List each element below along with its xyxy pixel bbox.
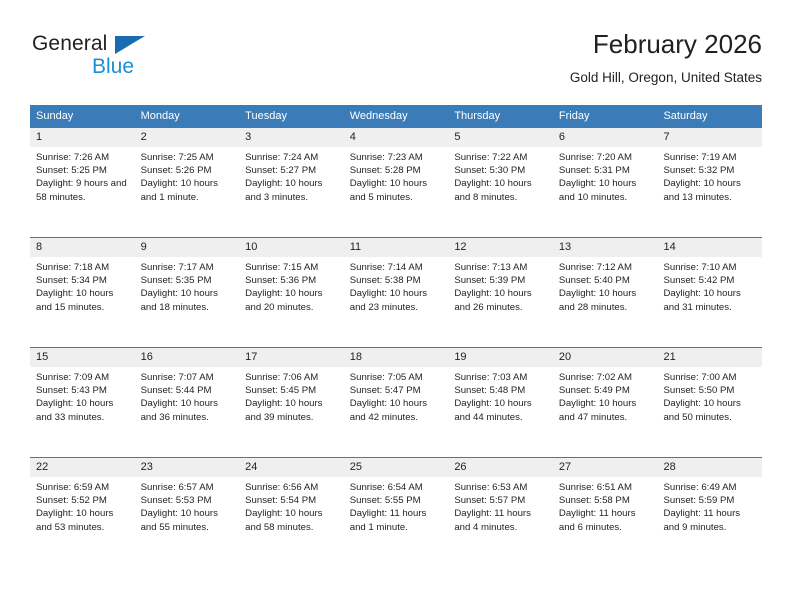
day-details: Sunrise: 7:09 AM Sunset: 5:43 PM Dayligh… — [30, 367, 135, 424]
daylight-text: Daylight: 9 hours and 58 minutes. — [36, 177, 131, 203]
sunrise-text: Sunrise: 7:19 AM — [663, 151, 758, 164]
day-number: 15 — [30, 348, 135, 367]
day-number: 23 — [135, 458, 240, 477]
general-blue-logo[interactable]: General Blue — [32, 32, 212, 90]
sunset-text: Sunset: 5:30 PM — [454, 164, 549, 177]
day-details: Sunrise: 7:03 AM Sunset: 5:48 PM Dayligh… — [448, 367, 553, 424]
day-number: 18 — [344, 348, 449, 367]
day-cell[interactable]: 3 Sunrise: 7:24 AM Sunset: 5:27 PM Dayli… — [239, 128, 344, 237]
sunrise-text: Sunrise: 6:49 AM — [663, 481, 758, 494]
sunrise-text: Sunrise: 7:26 AM — [36, 151, 131, 164]
sunset-text: Sunset: 5:48 PM — [454, 384, 549, 397]
day-cell[interactable]: 8 Sunrise: 7:18 AM Sunset: 5:34 PM Dayli… — [30, 238, 135, 347]
day-details: Sunrise: 7:12 AM Sunset: 5:40 PM Dayligh… — [553, 257, 658, 314]
day-cell[interactable]: 15 Sunrise: 7:09 AM Sunset: 5:43 PM Dayl… — [30, 348, 135, 457]
location-subtitle: Gold Hill, Oregon, United States — [570, 68, 762, 88]
day-details: Sunrise: 6:56 AM Sunset: 5:54 PM Dayligh… — [239, 477, 344, 534]
week-row: 8 Sunrise: 7:18 AM Sunset: 5:34 PM Dayli… — [30, 237, 762, 347]
day-cell[interactable]: 1 Sunrise: 7:26 AM Sunset: 5:25 PM Dayli… — [30, 128, 135, 237]
sunset-text: Sunset: 5:31 PM — [559, 164, 654, 177]
day-cell[interactable]: 27 Sunrise: 6:51 AM Sunset: 5:58 PM Dayl… — [553, 458, 658, 567]
sunrise-text: Sunrise: 6:56 AM — [245, 481, 340, 494]
week-row: 22 Sunrise: 6:59 AM Sunset: 5:52 PM Dayl… — [30, 457, 762, 567]
sunrise-text: Sunrise: 7:12 AM — [559, 261, 654, 274]
day-details: Sunrise: 7:07 AM Sunset: 5:44 PM Dayligh… — [135, 367, 240, 424]
daylight-text: Daylight: 11 hours and 9 minutes. — [663, 507, 758, 533]
day-details: Sunrise: 7:20 AM Sunset: 5:31 PM Dayligh… — [553, 147, 658, 204]
sunset-text: Sunset: 5:47 PM — [350, 384, 445, 397]
day-number: 14 — [657, 238, 762, 257]
day-number: 19 — [448, 348, 553, 367]
daylight-text: Daylight: 10 hours and 42 minutes. — [350, 397, 445, 423]
day-cell[interactable]: 28 Sunrise: 6:49 AM Sunset: 5:59 PM Dayl… — [657, 458, 762, 567]
daylight-text: Daylight: 10 hours and 36 minutes. — [141, 397, 236, 423]
day-number: 2 — [135, 128, 240, 147]
day-details: Sunrise: 7:10 AM Sunset: 5:42 PM Dayligh… — [657, 257, 762, 314]
sunset-text: Sunset: 5:45 PM — [245, 384, 340, 397]
daylight-text: Daylight: 10 hours and 39 minutes. — [245, 397, 340, 423]
day-cell[interactable]: 6 Sunrise: 7:20 AM Sunset: 5:31 PM Dayli… — [553, 128, 658, 237]
sunrise-text: Sunrise: 7:14 AM — [350, 261, 445, 274]
daylight-text: Daylight: 10 hours and 5 minutes. — [350, 177, 445, 203]
logo-text-general: General — [32, 32, 107, 56]
day-cell[interactable]: 19 Sunrise: 7:03 AM Sunset: 5:48 PM Dayl… — [448, 348, 553, 457]
daylight-text: Daylight: 10 hours and 28 minutes. — [559, 287, 654, 313]
sunrise-text: Sunrise: 7:22 AM — [454, 151, 549, 164]
weekday-header-wednesday: Wednesday — [344, 105, 449, 127]
day-number: 24 — [239, 458, 344, 477]
daylight-text: Daylight: 10 hours and 15 minutes. — [36, 287, 131, 313]
sunrise-text: Sunrise: 7:17 AM — [141, 261, 236, 274]
day-number: 8 — [30, 238, 135, 257]
sunset-text: Sunset: 5:58 PM — [559, 494, 654, 507]
week-row: 15 Sunrise: 7:09 AM Sunset: 5:43 PM Dayl… — [30, 347, 762, 457]
sunset-text: Sunset: 5:27 PM — [245, 164, 340, 177]
day-cell[interactable]: 4 Sunrise: 7:23 AM Sunset: 5:28 PM Dayli… — [344, 128, 449, 237]
sunrise-text: Sunrise: 7:18 AM — [36, 261, 131, 274]
day-details: Sunrise: 7:13 AM Sunset: 5:39 PM Dayligh… — [448, 257, 553, 314]
day-cell[interactable]: 13 Sunrise: 7:12 AM Sunset: 5:40 PM Dayl… — [553, 238, 658, 347]
daylight-text: Daylight: 10 hours and 8 minutes. — [454, 177, 549, 203]
daylight-text: Daylight: 10 hours and 10 minutes. — [559, 177, 654, 203]
sunset-text: Sunset: 5:49 PM — [559, 384, 654, 397]
day-details: Sunrise: 7:00 AM Sunset: 5:50 PM Dayligh… — [657, 367, 762, 424]
day-number: 13 — [553, 238, 658, 257]
day-details: Sunrise: 7:24 AM Sunset: 5:27 PM Dayligh… — [239, 147, 344, 204]
daylight-text: Daylight: 10 hours and 18 minutes. — [141, 287, 236, 313]
sunrise-text: Sunrise: 7:25 AM — [141, 151, 236, 164]
day-number: 17 — [239, 348, 344, 367]
daylight-text: Daylight: 10 hours and 3 minutes. — [245, 177, 340, 203]
sunset-text: Sunset: 5:59 PM — [663, 494, 758, 507]
day-number: 28 — [657, 458, 762, 477]
daylight-text: Daylight: 10 hours and 13 minutes. — [663, 177, 758, 203]
weekday-header-friday: Friday — [553, 105, 658, 127]
day-details: Sunrise: 7:17 AM Sunset: 5:35 PM Dayligh… — [135, 257, 240, 314]
daylight-text: Daylight: 10 hours and 26 minutes. — [454, 287, 549, 313]
sunset-text: Sunset: 5:39 PM — [454, 274, 549, 287]
sunset-text: Sunset: 5:35 PM — [141, 274, 236, 287]
day-number: 25 — [344, 458, 449, 477]
daylight-text: Daylight: 11 hours and 4 minutes. — [454, 507, 549, 533]
weekday-header-row: Sunday Monday Tuesday Wednesday Thursday… — [30, 105, 762, 127]
day-details: Sunrise: 6:53 AM Sunset: 5:57 PM Dayligh… — [448, 477, 553, 534]
week-row: 1 Sunrise: 7:26 AM Sunset: 5:25 PM Dayli… — [30, 127, 762, 237]
day-details: Sunrise: 7:18 AM Sunset: 5:34 PM Dayligh… — [30, 257, 135, 314]
day-cell[interactable]: 18 Sunrise: 7:05 AM Sunset: 5:47 PM Dayl… — [344, 348, 449, 457]
weekday-header-sunday: Sunday — [30, 105, 135, 127]
sunrise-text: Sunrise: 7:20 AM — [559, 151, 654, 164]
sunset-text: Sunset: 5:50 PM — [663, 384, 758, 397]
sunrise-text: Sunrise: 7:00 AM — [663, 371, 758, 384]
sunrise-text: Sunrise: 7:02 AM — [559, 371, 654, 384]
logo-text-blue: Blue — [92, 55, 134, 79]
day-details: Sunrise: 7:14 AM Sunset: 5:38 PM Dayligh… — [344, 257, 449, 314]
sunrise-text: Sunrise: 7:09 AM — [36, 371, 131, 384]
sunset-text: Sunset: 5:32 PM — [663, 164, 758, 177]
day-cell[interactable]: 21 Sunrise: 7:00 AM Sunset: 5:50 PM Dayl… — [657, 348, 762, 457]
day-number: 20 — [553, 348, 658, 367]
day-details: Sunrise: 6:59 AM Sunset: 5:52 PM Dayligh… — [30, 477, 135, 534]
sunset-text: Sunset: 5:25 PM — [36, 164, 131, 177]
day-details: Sunrise: 7:25 AM Sunset: 5:26 PM Dayligh… — [135, 147, 240, 204]
sunrise-text: Sunrise: 6:51 AM — [559, 481, 654, 494]
day-number: 22 — [30, 458, 135, 477]
sunset-text: Sunset: 5:57 PM — [454, 494, 549, 507]
day-number: 11 — [344, 238, 449, 257]
weekday-header-tuesday: Tuesday — [239, 105, 344, 127]
daylight-text: Daylight: 10 hours and 20 minutes. — [245, 287, 340, 313]
day-details: Sunrise: 6:54 AM Sunset: 5:55 PM Dayligh… — [344, 477, 449, 534]
day-cell[interactable]: 24 Sunrise: 6:56 AM Sunset: 5:54 PM Dayl… — [239, 458, 344, 567]
day-number: 4 — [344, 128, 449, 147]
day-details: Sunrise: 7:06 AM Sunset: 5:45 PM Dayligh… — [239, 367, 344, 424]
day-cell[interactable]: 14 Sunrise: 7:10 AM Sunset: 5:42 PM Dayl… — [657, 238, 762, 347]
day-number: 27 — [553, 458, 658, 477]
daylight-text: Daylight: 11 hours and 6 minutes. — [559, 507, 654, 533]
daylight-text: Daylight: 10 hours and 55 minutes. — [141, 507, 236, 533]
day-number: 10 — [239, 238, 344, 257]
day-number: 7 — [657, 128, 762, 147]
daylight-text: Daylight: 10 hours and 23 minutes. — [350, 287, 445, 313]
sunrise-text: Sunrise: 7:23 AM — [350, 151, 445, 164]
day-details: Sunrise: 7:02 AM Sunset: 5:49 PM Dayligh… — [553, 367, 658, 424]
weekday-header-thursday: Thursday — [448, 105, 553, 127]
day-number: 12 — [448, 238, 553, 257]
sunrise-text: Sunrise: 7:24 AM — [245, 151, 340, 164]
day-number: 21 — [657, 348, 762, 367]
day-cell[interactable]: 23 Sunrise: 6:57 AM Sunset: 5:53 PM Dayl… — [135, 458, 240, 567]
sunset-text: Sunset: 5:44 PM — [141, 384, 236, 397]
day-cell[interactable]: 11 Sunrise: 7:14 AM Sunset: 5:38 PM Dayl… — [344, 238, 449, 347]
day-cell[interactable]: 26 Sunrise: 6:53 AM Sunset: 5:57 PM Dayl… — [448, 458, 553, 567]
day-cell[interactable]: 9 Sunrise: 7:17 AM Sunset: 5:35 PM Dayli… — [135, 238, 240, 347]
day-number: 9 — [135, 238, 240, 257]
day-details: Sunrise: 6:51 AM Sunset: 5:58 PM Dayligh… — [553, 477, 658, 534]
sunrise-text: Sunrise: 6:57 AM — [141, 481, 236, 494]
sunset-text: Sunset: 5:26 PM — [141, 164, 236, 177]
day-cell[interactable]: 7 Sunrise: 7:19 AM Sunset: 5:32 PM Dayli… — [657, 128, 762, 237]
day-cell[interactable]: 5 Sunrise: 7:22 AM Sunset: 5:30 PM Dayli… — [448, 128, 553, 237]
daylight-text: Daylight: 11 hours and 1 minute. — [350, 507, 445, 533]
sunrise-text: Sunrise: 7:15 AM — [245, 261, 340, 274]
day-number: 5 — [448, 128, 553, 147]
sunset-text: Sunset: 5:43 PM — [36, 384, 131, 397]
day-cell[interactable]: 22 Sunrise: 6:59 AM Sunset: 5:52 PM Dayl… — [30, 458, 135, 567]
daylight-text: Daylight: 10 hours and 58 minutes. — [245, 507, 340, 533]
day-number: 6 — [553, 128, 658, 147]
sunset-text: Sunset: 5:40 PM — [559, 274, 654, 287]
day-number: 16 — [135, 348, 240, 367]
page-title: February 2026 — [570, 28, 762, 60]
day-details: Sunrise: 7:05 AM Sunset: 5:47 PM Dayligh… — [344, 367, 449, 424]
sunrise-text: Sunrise: 6:53 AM — [454, 481, 549, 494]
sunset-text: Sunset: 5:53 PM — [141, 494, 236, 507]
daylight-text: Daylight: 10 hours and 31 minutes. — [663, 287, 758, 313]
day-details: Sunrise: 7:15 AM Sunset: 5:36 PM Dayligh… — [239, 257, 344, 314]
sunrise-text: Sunrise: 6:54 AM — [350, 481, 445, 494]
day-cell[interactable]: 20 Sunrise: 7:02 AM Sunset: 5:49 PM Dayl… — [553, 348, 658, 457]
sunset-text: Sunset: 5:54 PM — [245, 494, 340, 507]
sunset-text: Sunset: 5:42 PM — [663, 274, 758, 287]
day-cell[interactable]: 10 Sunrise: 7:15 AM Sunset: 5:36 PM Dayl… — [239, 238, 344, 347]
daylight-text: Daylight: 10 hours and 1 minute. — [141, 177, 236, 203]
day-details: Sunrise: 7:22 AM Sunset: 5:30 PM Dayligh… — [448, 147, 553, 204]
sunrise-text: Sunrise: 7:07 AM — [141, 371, 236, 384]
sunset-text: Sunset: 5:28 PM — [350, 164, 445, 177]
weekday-header-monday: Monday — [135, 105, 240, 127]
daylight-text: Daylight: 10 hours and 50 minutes. — [663, 397, 758, 423]
daylight-text: Daylight: 10 hours and 47 minutes. — [559, 397, 654, 423]
sunrise-text: Sunrise: 7:13 AM — [454, 261, 549, 274]
daylight-text: Daylight: 10 hours and 53 minutes. — [36, 507, 131, 533]
blue-triangle-icon — [115, 36, 145, 54]
daylight-text: Daylight: 10 hours and 33 minutes. — [36, 397, 131, 423]
sunrise-text: Sunrise: 7:03 AM — [454, 371, 549, 384]
title-block: February 2026 Gold Hill, Oregon, United … — [570, 28, 762, 88]
page-header: General Blue February 2026 Gold Hill, Or… — [30, 28, 762, 100]
calendar-page: General Blue February 2026 Gold Hill, Or… — [0, 0, 792, 612]
sunset-text: Sunset: 5:36 PM — [245, 274, 340, 287]
day-cell[interactable]: 12 Sunrise: 7:13 AM Sunset: 5:39 PM Dayl… — [448, 238, 553, 347]
day-number: 3 — [239, 128, 344, 147]
day-number: 26 — [448, 458, 553, 477]
day-details: Sunrise: 6:57 AM Sunset: 5:53 PM Dayligh… — [135, 477, 240, 534]
sunset-text: Sunset: 5:34 PM — [36, 274, 131, 287]
daylight-text: Daylight: 10 hours and 44 minutes. — [454, 397, 549, 423]
sunset-text: Sunset: 5:55 PM — [350, 494, 445, 507]
sunset-text: Sunset: 5:38 PM — [350, 274, 445, 287]
sunrise-text: Sunrise: 7:10 AM — [663, 261, 758, 274]
day-details: Sunrise: 7:23 AM Sunset: 5:28 PM Dayligh… — [344, 147, 449, 204]
day-details: Sunrise: 7:19 AM Sunset: 5:32 PM Dayligh… — [657, 147, 762, 204]
day-cell[interactable]: 25 Sunrise: 6:54 AM Sunset: 5:55 PM Dayl… — [344, 458, 449, 567]
sunset-text: Sunset: 5:52 PM — [36, 494, 131, 507]
day-details: Sunrise: 7:26 AM Sunset: 5:25 PM Dayligh… — [30, 147, 135, 204]
calendar-grid: Sunday Monday Tuesday Wednesday Thursday… — [30, 105, 762, 567]
sunrise-text: Sunrise: 7:06 AM — [245, 371, 340, 384]
day-cell[interactable]: 2 Sunrise: 7:25 AM Sunset: 5:26 PM Dayli… — [135, 128, 240, 237]
day-number: 1 — [30, 128, 135, 147]
day-details: Sunrise: 6:49 AM Sunset: 5:59 PM Dayligh… — [657, 477, 762, 534]
weekday-header-saturday: Saturday — [657, 105, 762, 127]
sunrise-text: Sunrise: 6:59 AM — [36, 481, 131, 494]
day-cell[interactable]: 16 Sunrise: 7:07 AM Sunset: 5:44 PM Dayl… — [135, 348, 240, 457]
day-cell[interactable]: 17 Sunrise: 7:06 AM Sunset: 5:45 PM Dayl… — [239, 348, 344, 457]
sunrise-text: Sunrise: 7:05 AM — [350, 371, 445, 384]
